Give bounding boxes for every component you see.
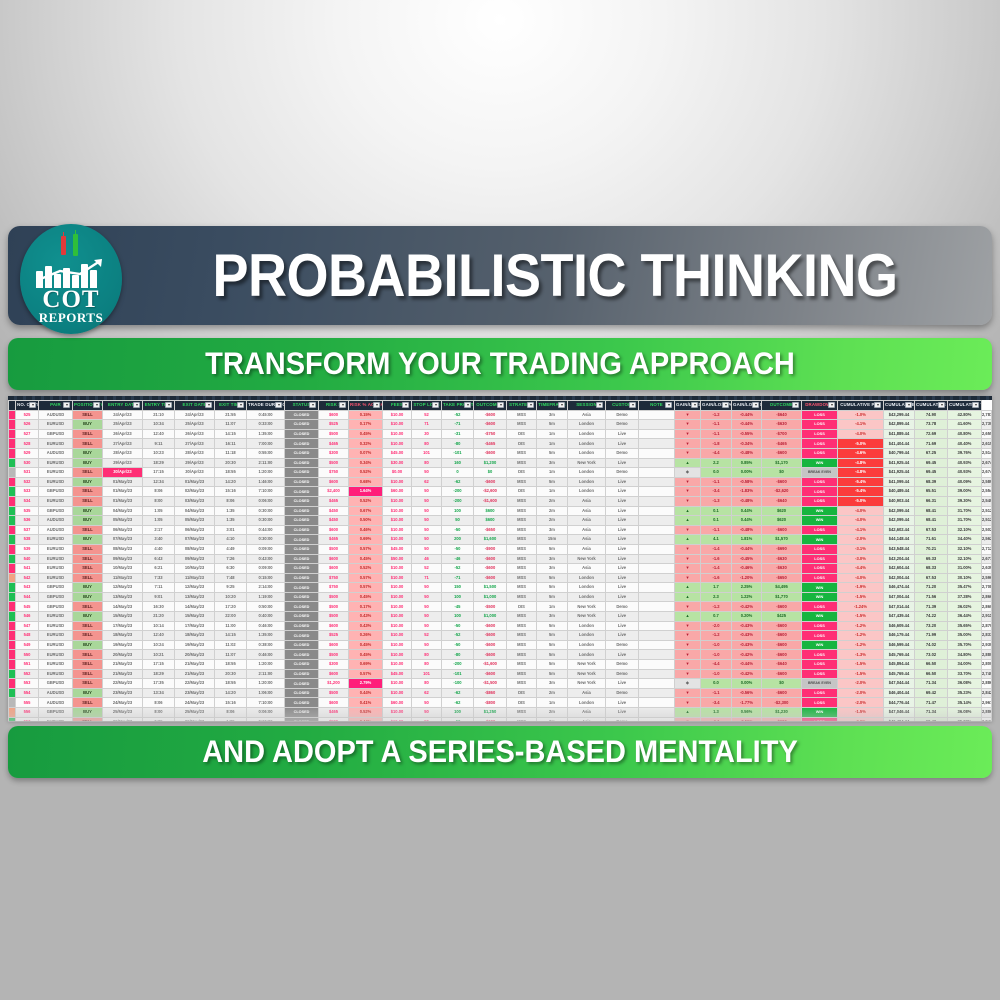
cell-exit-time[interactable]: 14:15	[215, 429, 247, 439]
cell-cumulative-pct[interactable]: 35.47%	[948, 583, 982, 593]
cell-strategy[interactable]: MSS	[507, 516, 537, 526]
cell-outcome-dollar[interactable]: -$600	[474, 717, 507, 721]
cell-status[interactable]: CLOSED	[285, 420, 319, 430]
cell-entry-date[interactable]: 12/May/23	[103, 583, 143, 593]
cell-risk[interactable]: $600	[319, 621, 349, 631]
cell-pos[interactable]: BUY	[73, 420, 103, 430]
cell-gain-loss-r[interactable]: ▼	[675, 477, 701, 487]
cell-gain-loss-dollar[interactable]: -$600	[762, 477, 802, 487]
col-header-fee[interactable]: FEES	[383, 401, 412, 411]
cell-cumulative-pct[interactable]: 40.80%	[948, 429, 982, 439]
cell-outcome[interactable]: WIN	[802, 708, 838, 718]
cell-note[interactable]	[639, 410, 675, 420]
cell-gain-loss-pct[interactable]: -0.44%	[732, 420, 762, 430]
cell-stop-loss[interactable]: 30	[412, 429, 442, 439]
cell-pos[interactable]: BUY	[73, 448, 103, 458]
cell-pos[interactable]: SELL	[73, 698, 103, 708]
cell-duration[interactable]: 7:00:00	[247, 439, 285, 449]
cell-pos[interactable]: SELL	[73, 496, 103, 506]
cell-gain-loss-r-value[interactable]: -1.0	[701, 650, 732, 660]
cell-session[interactable]: New York	[568, 669, 606, 679]
filter-dropdown-icon[interactable]	[93, 402, 100, 408]
cell-pos[interactable]: BUY	[73, 708, 103, 718]
cell-cumulative-pct[interactable]: 33.70%	[948, 669, 982, 679]
cell-exit-date[interactable]: 07/May/23	[175, 535, 215, 545]
cell-status[interactable]: CLOSED	[285, 564, 319, 574]
cell-status[interactable]: CLOSED	[285, 583, 319, 593]
filter-dropdown-icon[interactable]	[527, 402, 534, 408]
cell-num[interactable]: 540	[16, 554, 39, 564]
cell-timeframe[interactable]: 5m	[537, 650, 568, 660]
cell-custom[interactable]: Live	[606, 439, 639, 449]
table-row[interactable]: 547EURUSDSELL17/May/2310:1417/May/2311:0…	[9, 621, 992, 631]
cell-timeframe[interactable]: 1m	[537, 439, 568, 449]
cell-timeframe[interactable]: 3m	[537, 612, 568, 622]
cell-cumulative-pl[interactable]: $41,925.44	[884, 468, 915, 478]
cell-drawdown[interactable]: -5.0%	[838, 439, 884, 449]
cell-outcome[interactable]: LOSS	[802, 573, 838, 583]
cell-risk-pct[interactable]: 0.43%	[349, 612, 383, 622]
cell-stop-loss[interactable]: 52	[412, 410, 442, 420]
cell-pos[interactable]: SELL	[73, 602, 103, 612]
cell-gain-loss-pct[interactable]: 0.44%	[732, 516, 762, 526]
cell-gain-loss-pct[interactable]: -0.45%	[732, 554, 762, 564]
cell-exit-date[interactable]: 26/Apr/23	[175, 429, 215, 439]
cell-cumulative-r[interactable]: 66.50	[915, 669, 948, 679]
cell-outcome[interactable]: LOSS	[802, 544, 838, 554]
cell-cumulative-pct[interactable]: 40.93%	[948, 458, 982, 468]
cell-drawdown[interactable]: -5.4%	[838, 477, 884, 487]
cell-session[interactable]: New York	[568, 612, 606, 622]
cell-gain-loss-r[interactable]: ▲	[675, 458, 701, 468]
cell-note[interactable]	[639, 496, 675, 506]
table-row[interactable]: 554AUDUSDBUY23/May/2313:3423/May/2314:20…	[9, 688, 992, 698]
cell-take-profit[interactable]: -50	[442, 621, 474, 631]
cell-take-profit[interactable]: -62	[442, 477, 474, 487]
cell-gain-loss-r[interactable]: ▼	[675, 487, 701, 497]
cell-outcome-dollar[interactable]: -$1,500	[474, 679, 507, 689]
cell-cumulative-pct[interactable]: 42.80%	[948, 410, 982, 420]
cell-pos[interactable]: SELL	[73, 410, 103, 420]
cell-exit-time[interactable]: 11:07	[215, 650, 247, 660]
cell-flag[interactable]	[9, 717, 16, 721]
filter-dropdown-icon[interactable]	[237, 402, 244, 408]
cell-num[interactable]: 544	[16, 592, 39, 602]
table-row[interactable]: 546EURUSDBUY15/May/2321:2015/May/2322:00…	[9, 612, 992, 622]
cell-outcome[interactable]: LOSS	[802, 631, 838, 641]
cell-duration[interactable]: 0:43:00	[247, 554, 285, 564]
cell-note[interactable]	[639, 544, 675, 554]
col-header-cpct[interactable]: CUMULATIVE %	[915, 401, 948, 411]
cell-gain-loss-r-value[interactable]: -2.0	[701, 621, 732, 631]
cell-exit-date[interactable]: 26/May/23	[175, 717, 215, 721]
table-row[interactable]: 533GBPUSDSELL01/May/238:0602/May/2315:16…	[9, 487, 992, 497]
cell-pair[interactable]: EURUSD	[39, 669, 73, 679]
cell-gain-loss-dollar[interactable]: $4,495	[762, 583, 802, 593]
cell-flag[interactable]	[9, 487, 16, 497]
cell-outcome[interactable]: LOSS	[802, 410, 838, 420]
cell-pos[interactable]: SELL	[73, 468, 103, 478]
cell-pair[interactable]: EURUSD	[39, 660, 73, 670]
table-row[interactable]: 529AUDUSDBUY28/Apr/2310:2328/Apr/2311:18…	[9, 448, 992, 458]
cell-entry-time[interactable]: 7:33	[143, 573, 175, 583]
cell-flag[interactable]	[9, 468, 16, 478]
cell-risk-pct[interactable]: 0.45%	[349, 554, 383, 564]
cell-gain-loss-pct[interactable]: 1.81%	[732, 535, 762, 545]
filter-dropdown-icon[interactable]	[165, 402, 172, 408]
cell-flag[interactable]	[9, 429, 16, 439]
cell-risk[interactable]: $525	[319, 420, 349, 430]
cell-cumulative-pl[interactable]: $43,204.44	[884, 554, 915, 564]
cell-cumulative-pl[interactable]: $47,439.44	[884, 612, 915, 622]
filter-dropdown-icon[interactable]	[275, 402, 282, 408]
cell-outcome[interactable]: LOSS	[802, 487, 838, 497]
cell-outcome[interactable]: BREAK EVEN	[802, 679, 838, 689]
cell-timeframe[interactable]: 3m	[537, 458, 568, 468]
cell-gain-loss-dollar[interactable]: -$690	[762, 544, 802, 554]
cell-entry-time[interactable]: 4:40	[143, 544, 175, 554]
cell-cumulative-pct[interactable]: 31.70%	[948, 516, 982, 526]
cell-pair[interactable]: EURUSD	[39, 544, 73, 554]
cell-entry-time[interactable]: 16:30	[143, 602, 175, 612]
cell-pos[interactable]: SELL	[73, 621, 103, 631]
cell-gain-loss-r-value[interactable]: 1.7	[701, 583, 732, 593]
cell-risk[interactable]: $500	[319, 592, 349, 602]
cell-gain-loss-r[interactable]: ▼	[675, 525, 701, 535]
cell-cumulative-ticks[interactable]: 2,674	[982, 468, 992, 478]
cell-cumulative-ticks[interactable]: 2,842	[982, 717, 992, 721]
cell-cumulative-pct[interactable]: 40.09%	[948, 477, 982, 487]
cell-gain-loss-pct[interactable]: 0.85%	[732, 458, 762, 468]
cell-risk[interactable]: $1,200	[319, 679, 349, 689]
cell-timeframe[interactable]: 5m	[537, 448, 568, 458]
cell-take-profit[interactable]: -101	[442, 669, 474, 679]
cell-gain-loss-r-value[interactable]: -1.1	[701, 429, 732, 439]
cell-timeframe[interactable]: 15m	[537, 535, 568, 545]
cell-exit-time[interactable]: 16:11	[215, 439, 247, 449]
col-header-ct[interactable]: CUMULATIVE TICKS	[948, 401, 982, 411]
cell-note[interactable]	[639, 516, 675, 526]
cell-drawdown[interactable]: -4.0%	[838, 429, 884, 439]
cell-risk-pct[interactable]: 0.17%	[349, 420, 383, 430]
cell-outcome[interactable]: LOSS	[802, 564, 838, 574]
cell-num[interactable]: 542	[16, 573, 39, 583]
cell-pair[interactable]: EURUSD	[39, 612, 73, 622]
cell-session[interactable]: New York	[568, 602, 606, 612]
filter-dropdown-icon[interactable]	[205, 402, 212, 408]
cell-entry-date[interactable]: 26/May/23	[103, 717, 143, 721]
col-header-edate[interactable]: ENTRY DATE	[103, 401, 143, 411]
cell-timeframe[interactable]: 3m	[537, 564, 568, 574]
cell-entry-date[interactable]: 21/May/23	[103, 660, 143, 670]
cell-status[interactable]: CLOSED	[285, 631, 319, 641]
cell-entry-date[interactable]: 24/May/23	[103, 698, 143, 708]
cell-entry-time[interactable]: 10:14	[143, 621, 175, 631]
cell-status[interactable]: CLOSED	[285, 698, 319, 708]
cell-strategy[interactable]: MSS	[507, 592, 537, 602]
table-row[interactable]: 541EURUSDSELL10/May/236:2110/May/236:300…	[9, 564, 992, 574]
cell-pair[interactable]: AUDUSD	[39, 410, 73, 420]
cell-cumulative-pct[interactable]: 34.00%	[948, 660, 982, 670]
cell-cumulative-r[interactable]: 66.50	[915, 660, 948, 670]
cell-risk-pct[interactable]: 0.34%	[349, 458, 383, 468]
cell-status[interactable]: CLOSED	[285, 708, 319, 718]
filter-dropdown-icon[interactable]	[629, 402, 636, 408]
cell-cumulative-pl[interactable]: $42,099.44	[884, 506, 915, 516]
cell-custom[interactable]: Live	[606, 573, 639, 583]
cell-exit-time[interactable]: 11:02	[215, 640, 247, 650]
cell-cumulative-pct[interactable]: 31.00%	[948, 564, 982, 574]
cell-entry-time[interactable]: 10:24	[143, 640, 175, 650]
cell-risk-pct[interactable]: 0.50%	[349, 516, 383, 526]
cell-duration[interactable]: 0:55:00	[247, 448, 285, 458]
cell-cumulative-ticks[interactable]: 2,639	[982, 564, 992, 574]
cell-gain-loss-dollar[interactable]: $425	[762, 612, 802, 622]
cell-cumulative-pct[interactable]: 32.10%	[948, 544, 982, 554]
cell-timeframe[interactable]: 1m	[537, 468, 568, 478]
cell-outcome-dollar[interactable]: -$860	[474, 688, 507, 698]
cell-duration[interactable]: 7:10:00	[247, 698, 285, 708]
cell-entry-time[interactable]: 0:05	[143, 717, 175, 721]
table-row[interactable]: 543GBPUSDBUY12/May/237:1112/May/239:252:…	[9, 583, 992, 593]
cell-cumulative-ticks[interactable]: 2,781	[982, 410, 992, 420]
cell-gain-loss-dollar[interactable]: -$650	[762, 573, 802, 583]
col-header-note[interactable]: NOTE	[639, 401, 675, 411]
cell-note[interactable]	[639, 602, 675, 612]
cell-flag[interactable]	[9, 602, 16, 612]
cell-fees[interactable]: $10.00	[383, 679, 412, 689]
cell-num[interactable]: 536	[16, 516, 39, 526]
cell-stop-loss[interactable]: 50	[412, 640, 442, 650]
col-header-sess[interactable]: SESSION	[568, 401, 606, 411]
cell-cumulative-pct[interactable]: 32.10%	[948, 554, 982, 564]
table-row[interactable]: 527GBPUSDSELL26/Apr/2312:4026/Apr/2314:1…	[9, 429, 992, 439]
cell-gain-loss-dollar[interactable]: -$600	[762, 621, 802, 631]
cell-session[interactable]: London	[568, 621, 606, 631]
cell-entry-date[interactable]: 29/Apr/23	[103, 458, 143, 468]
cell-custom[interactable]: Demo	[606, 669, 639, 679]
cell-stop-loss[interactable]: 50	[412, 698, 442, 708]
cell-pair[interactable]: EURUSD	[39, 477, 73, 487]
cell-exit-time[interactable]: 22:00	[215, 612, 247, 622]
cell-drawdown[interactable]: -5.0%	[838, 496, 884, 506]
cell-outcome-dollar[interactable]: -$600	[474, 573, 507, 583]
cell-status[interactable]: CLOSED	[285, 448, 319, 458]
cell-session[interactable]: London	[568, 487, 606, 497]
cell-entry-date[interactable]: 01/May/23	[103, 487, 143, 497]
cell-cumulative-r[interactable]: 68.41	[915, 516, 948, 526]
cell-fees[interactable]: $10.00	[383, 583, 412, 593]
cell-cumulative-pct[interactable]: 39.00%	[948, 487, 982, 497]
col-header-rpct[interactable]: RISK % ACTUAL	[349, 401, 383, 411]
cell-risk[interactable]: $500	[319, 544, 349, 554]
cell-exit-time[interactable]: 11:07	[215, 420, 247, 430]
cell-gain-loss-r-value[interactable]: -1.1	[701, 420, 732, 430]
cell-fees[interactable]: $10.00	[383, 439, 412, 449]
cell-exit-time[interactable]: 1:35	[215, 506, 247, 516]
cell-pos[interactable]: BUY	[73, 612, 103, 622]
cell-risk[interactable]: $500	[319, 612, 349, 622]
cell-cumulative-r[interactable]: 71.69	[915, 439, 948, 449]
cell-stop-loss[interactable]: 50	[412, 592, 442, 602]
cell-risk-pct[interactable]: 0.44%	[349, 688, 383, 698]
cell-gain-loss-r[interactable]: ▼	[675, 621, 701, 631]
cell-outcome[interactable]: LOSS	[802, 717, 838, 721]
cell-cumulative-pct[interactable]: 34.40%	[948, 535, 982, 545]
cell-exit-date[interactable]: 13/May/23	[175, 592, 215, 602]
cell-fees[interactable]: $10.00	[383, 592, 412, 602]
cell-num[interactable]: 549	[16, 640, 39, 650]
cell-num[interactable]: 556	[16, 708, 39, 718]
cell-cumulative-ticks[interactable]: 2,930	[982, 640, 992, 650]
cell-cumulative-pl[interactable]: $47,014.44	[884, 602, 915, 612]
cell-cumulative-r[interactable]: 67.53	[915, 573, 948, 583]
cell-outcome[interactable]: WIN	[802, 592, 838, 602]
cell-gain-loss-r-value[interactable]: 2.3	[701, 592, 732, 602]
cell-gain-loss-dollar[interactable]: -$600	[762, 650, 802, 660]
cell-flag[interactable]	[9, 506, 16, 516]
cell-take-profit[interactable]: 100	[442, 506, 474, 516]
cell-pair[interactable]: EURUSD	[39, 640, 73, 650]
table-row[interactable]: 540EURUSDSELL09/May/236:4309/May/237:260…	[9, 554, 992, 564]
cell-risk-pct[interactable]: 0.52%	[349, 468, 383, 478]
cell-exit-date[interactable]: 03/May/23	[175, 496, 215, 506]
filter-dropdown-icon[interactable]	[339, 402, 346, 408]
cell-stop-loss[interactable]: 50	[412, 717, 442, 721]
cell-strategy[interactable]: MSS	[507, 420, 537, 430]
cell-duration[interactable]: 1:35:00	[247, 631, 285, 641]
cell-custom[interactable]: Demo	[606, 410, 639, 420]
cell-strategy[interactable]: MSS	[507, 679, 537, 689]
cell-exit-date[interactable]: 27/Apr/23	[175, 439, 215, 449]
cell-entry-time[interactable]: 10:21	[143, 650, 175, 660]
cell-pos[interactable]: BUY	[73, 583, 103, 593]
cell-entry-date[interactable]: 17/May/23	[103, 621, 143, 631]
cell-flag[interactable]	[9, 592, 16, 602]
cell-session[interactable]: London	[568, 429, 606, 439]
cell-session[interactable]: New York	[568, 458, 606, 468]
cell-note[interactable]	[639, 660, 675, 670]
cell-duration[interactable]: 7:10:00	[247, 487, 285, 497]
cell-pos[interactable]: SELL	[73, 669, 103, 679]
cell-risk-pct[interactable]: 0.57%	[349, 544, 383, 554]
cell-flag[interactable]	[9, 688, 16, 698]
cell-status[interactable]: CLOSED	[285, 612, 319, 622]
cell-custom[interactable]: Live	[606, 544, 639, 554]
col-header-risk[interactable]: RISK $	[319, 401, 349, 411]
cell-pair[interactable]: GBPUSD	[39, 487, 73, 497]
table-row[interactable]: 556GBPUSDBUY25/May/238:0025/May/238:060:…	[9, 708, 992, 718]
table-row[interactable]: 555AUDUSDSELL24/May/238:0624/May/2315:16…	[9, 698, 992, 708]
cell-duration[interactable]: 0:50:00	[247, 602, 285, 612]
cell-note[interactable]	[639, 535, 675, 545]
cell-exit-date[interactable]: 17/May/23	[175, 621, 215, 631]
cell-drawdown[interactable]: -4.0%	[838, 516, 884, 526]
cell-outcome[interactable]: LOSS	[802, 660, 838, 670]
cell-cumulative-pl[interactable]: $47,046.44	[884, 708, 915, 718]
cell-take-profit[interactable]: -52	[442, 564, 474, 574]
cell-num[interactable]: 548	[16, 631, 39, 641]
cell-entry-time[interactable]: 8:06	[143, 698, 175, 708]
cell-gain-loss-r[interactable]: ▼	[675, 640, 701, 650]
cell-gain-loss-pct[interactable]: 2.25%	[732, 583, 762, 593]
cell-timeframe[interactable]: 5m	[537, 477, 568, 487]
cell-gain-loss-r[interactable]: ▲	[675, 592, 701, 602]
cell-strategy[interactable]: MSS	[507, 612, 537, 622]
filter-dropdown-icon[interactable]	[874, 402, 881, 408]
cell-gain-loss-r[interactable]: ▼	[675, 554, 701, 564]
cell-session[interactable]: Asia	[568, 535, 606, 545]
cell-outcome[interactable]: LOSS	[802, 496, 838, 506]
cell-outcome-dollar[interactable]: $1,500	[474, 583, 507, 593]
cell-cumulative-ticks[interactable]: 2,615	[982, 439, 992, 449]
cell-risk[interactable]: $600	[319, 698, 349, 708]
cell-gain-loss-r-value[interactable]: -1.2	[701, 602, 732, 612]
cell-risk[interactable]: $500	[319, 458, 349, 468]
cell-risk-pct[interactable]: 0.26%	[349, 631, 383, 641]
cell-gain-loss-dollar[interactable]: $1,170	[762, 458, 802, 468]
cell-entry-date[interactable]: 07/May/23	[103, 535, 143, 545]
cell-status[interactable]: CLOSED	[285, 554, 319, 564]
cell-entry-time[interactable]: 12:34	[143, 477, 175, 487]
cell-strategy[interactable]: DIS	[507, 602, 537, 612]
cell-num[interactable]: 547	[16, 621, 39, 631]
cell-timeframe[interactable]: 5m	[537, 544, 568, 554]
cell-cumulative-pct[interactable]: 40.93%	[948, 468, 982, 478]
cell-duration[interactable]: 1:46:00	[247, 477, 285, 487]
cell-gain-loss-r[interactable]: ▼	[675, 650, 701, 660]
cell-cumulative-ticks[interactable]: 2,512	[982, 506, 992, 516]
cell-outcome[interactable]: LOSS	[802, 525, 838, 535]
col-header-pair[interactable]: PAIR	[39, 401, 73, 411]
cell-take-profit[interactable]: 200	[442, 535, 474, 545]
cell-duration[interactable]: 1:20:00	[247, 468, 285, 478]
cell-strategy[interactable]: MSS	[507, 573, 537, 583]
cell-exit-date[interactable]: 24/May/23	[175, 698, 215, 708]
cell-session[interactable]: London	[568, 631, 606, 641]
col-header-etime[interactable]: ENTRY TIME	[143, 401, 175, 411]
cell-session[interactable]: London	[568, 583, 606, 593]
cell-cumulative-ticks[interactable]: 2,554	[982, 487, 992, 497]
cell-status[interactable]: CLOSED	[285, 669, 319, 679]
cell-drawdown[interactable]: -2.0%	[838, 679, 884, 689]
col-header-gp[interactable]: GAIN/LOSS %	[701, 401, 732, 411]
cell-outcome[interactable]: LOSS	[802, 650, 838, 660]
cell-cumulative-pl[interactable]: $47,044.44	[884, 679, 915, 689]
cell-strategy[interactable]: DIS	[507, 468, 537, 478]
cell-pair[interactable]: EURUSD	[39, 468, 73, 478]
cell-outcome-dollar[interactable]: $0	[474, 468, 507, 478]
cell-gain-loss-dollar[interactable]: $1,770	[762, 592, 802, 602]
cell-cumulative-ticks[interactable]: 2,800	[982, 660, 992, 670]
cell-stop-loss[interactable]: 52	[412, 564, 442, 574]
cell-cumulative-ticks[interactable]: 2,870	[982, 621, 992, 631]
cell-pos[interactable]: SELL	[73, 717, 103, 721]
cell-strategy[interactable]: MSS	[507, 525, 537, 535]
cell-outcome[interactable]: LOSS	[802, 448, 838, 458]
cell-entry-date[interactable]: 08/May/23	[103, 544, 143, 554]
cell-exit-time[interactable]: 20:30	[215, 669, 247, 679]
cell-pair[interactable]: EURUSD	[39, 621, 73, 631]
cell-num[interactable]: 533	[16, 487, 39, 497]
cell-gain-loss-r-value[interactable]: -1.8	[701, 439, 732, 449]
cell-session[interactable]: New York	[568, 554, 606, 564]
cell-status[interactable]: CLOSED	[285, 688, 319, 698]
cell-pos[interactable]: SELL	[73, 660, 103, 670]
cell-note[interactable]	[639, 554, 675, 564]
cell-stop-loss[interactable]: 50	[412, 621, 442, 631]
cell-gain-loss-pct[interactable]: 0.44%	[732, 506, 762, 516]
